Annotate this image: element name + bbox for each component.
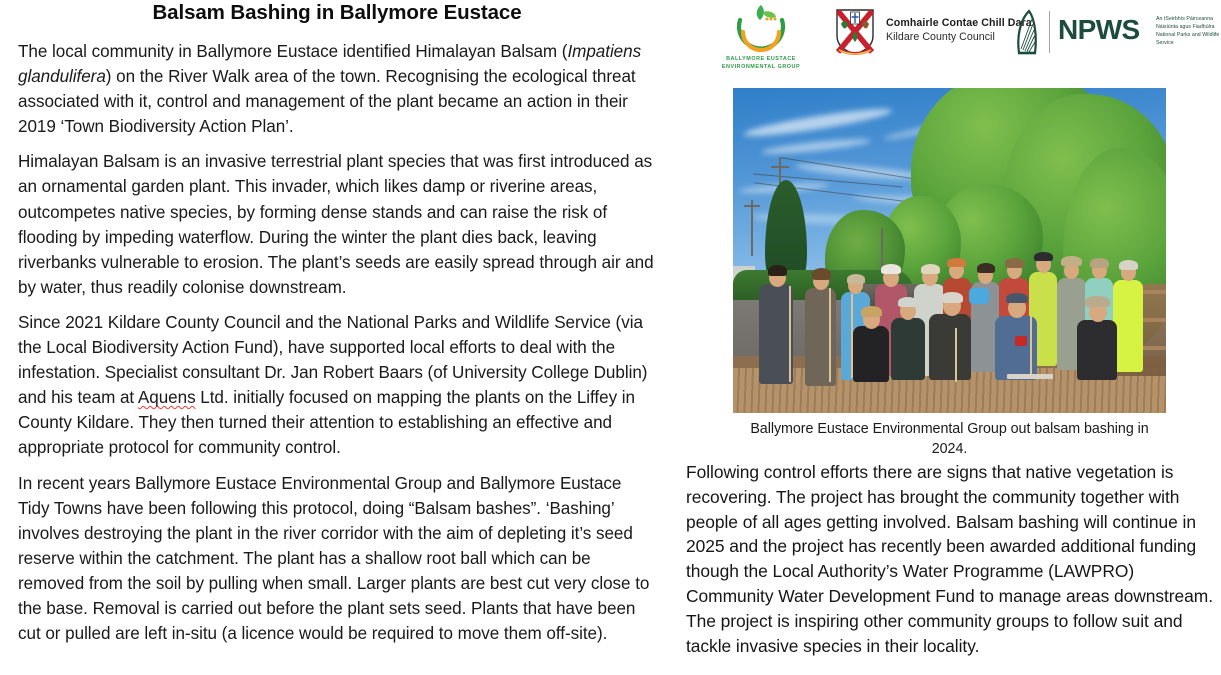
logo-npws: NPWS An tSeirbhís Páirceanna Náisiúnta a… [1011,6,1219,62]
photo-person-kneeling [853,326,889,382]
partner-logos-row: BALLYMORE EUSTACE ENVIRONMENTAL GROUP [672,0,1221,78]
photo-rake-head [1007,374,1053,379]
group-photo [733,88,1166,413]
paragraph-species-description: Himalayan Balsam is an invasive terrestr… [18,149,656,300]
photo-blue-bag [969,288,989,304]
logo-divider [1049,11,1050,53]
logo-beeg-text: BALLYMORE EUSTACE ENVIRONMENTAL GROUP [718,56,804,71]
photo-utility-pole-crossarm [744,205,760,207]
photo-tool [829,288,831,382]
photo-utility-pole [751,200,753,256]
photo-caption: Ballymore Eustace Environmental Group ou… [733,413,1166,459]
photo-person-hair [921,264,940,274]
logo-beeg-line1: BALLYMORE EUSTACE [718,56,804,64]
irish-harp-icon [1013,9,1041,55]
page-title: Balsam Bashing in Ballymore Eustace [18,0,656,26]
photo-tool [789,286,791,382]
paragraph-support-history: Since 2021 Kildare County Council and th… [18,310,656,461]
photo-person-kneeling [929,314,971,380]
photo-person [805,288,836,386]
photo-utility-pole-crossarm [771,166,789,168]
right-body-text: Following control efforts there are sign… [686,460,1214,658]
photo-person-cap [898,297,918,307]
paragraph-intro-part1: The local community in Ballymore Eustace… [18,42,567,61]
photo-person-hair [861,306,882,317]
photo-person-hat [1085,296,1110,307]
logo-ballymore-eustace-environmental-group: BALLYMORE EUSTACE ENVIRONMENTAL GROUP [718,2,804,76]
npws-wordmark: NPWS [1058,14,1140,46]
photo-red-item [1015,336,1027,346]
kildare-wordmark: Comhairle Contae Chill Dara Kildare Coun… [886,16,1011,44]
photo-person-hair [1005,258,1024,268]
kildare-name-english: Kildare County Council [886,30,1011,44]
photo-person-hair [977,263,995,273]
leaf-circle-icon [732,2,790,54]
photo-person-hair [1090,258,1109,268]
paragraph-intro: The local community in Ballymore Eustace… [18,39,656,139]
logo-kildare-county-council: Comhairle Contae Chill Dara Kildare Coun… [829,6,1009,60]
photo-person-cap [947,258,966,267]
npws-subtitle: An tSeirbhís Páirceanna Náisiúnta agus F… [1156,15,1220,47]
npws-subtitle-irish: An tSeirbhís Páirceanna Náisiúnta agus F… [1156,15,1220,31]
document-page: Balsam Bashing in Ballymore Eustace The … [0,0,1221,675]
photo-person-hair [768,265,787,276]
photo-person-hair [1119,260,1138,270]
logo-beeg-line2: ENVIRONMENTAL GROUP [718,64,804,72]
photo-person [759,284,793,384]
photo-person-cap [1006,293,1028,303]
photo-person-cap [881,264,901,274]
photo-person-hair [812,268,831,280]
photo-person-kneeling [891,318,925,380]
photo-rake [1030,316,1032,376]
left-text-column: Balsam Bashing in Ballymore Eustace The … [0,0,672,675]
npws-subtitle-english: National Parks and Wildlife Service [1156,31,1220,47]
right-media-column: BALLYMORE EUSTACE ENVIRONMENTAL GROUP [672,0,1221,675]
photo-person-hat [1061,256,1082,266]
paragraph-bashing-protocol: In recent years Ballymore Eustace Enviro… [18,471,656,647]
kildare-crest-icon [829,6,881,60]
photo-figure: Ballymore Eustace Environmental Group ou… [733,88,1166,459]
paragraph-outcomes: Following control efforts there are sign… [686,460,1214,658]
photo-tool [955,328,957,382]
spellcheck-flagged-word: Aquens [138,388,196,407]
photo-person-hair [847,274,865,284]
photo-person-hi-vis [1113,280,1143,372]
kildare-name-irish: Comhairle Contae Chill Dara [886,16,1011,30]
photo-person-cap [1034,252,1053,261]
paragraph-intro-part2: ) on the River Walk area of the town. Re… [18,67,636,136]
photo-person-hair [941,292,963,303]
photo-person-kneeling [1077,320,1117,380]
